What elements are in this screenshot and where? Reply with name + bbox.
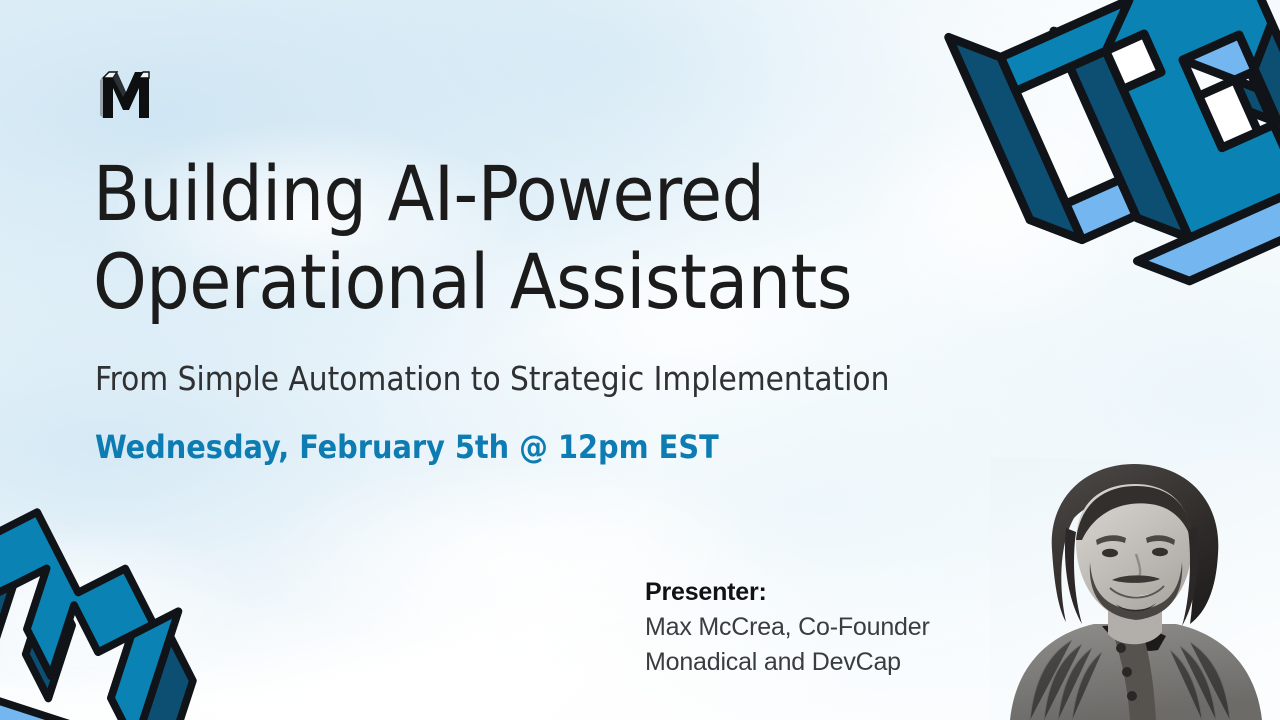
title-line-1: Building AI-Powered — [93, 150, 973, 238]
monadical-m-logo-icon — [95, 68, 157, 126]
presenter-photo — [990, 458, 1280, 720]
slide-text-column: Building AI-Powered Operational Assistan… — [93, 150, 973, 466]
event-date: Wednesday, February 5th @ 12pm EST — [95, 428, 973, 466]
presenter-block: Presenter: Max McCrea, Co-Founder Monadi… — [645, 575, 1005, 681]
slide-subtitle: From Simple Automation to Strategic Impl… — [95, 358, 973, 399]
webinar-announcement-slide: Building AI-Powered Operational Assistan… — [0, 0, 1280, 720]
presenter-company: Monadical and DevCap — [645, 645, 1005, 681]
page-title: Building AI-Powered Operational Assistan… — [93, 150, 973, 326]
presenter-name: Max McCrea, Co-Founder — [645, 610, 1005, 646]
presenter-label: Presenter: — [645, 575, 1005, 610]
title-line-2: Operational Assistants — [93, 238, 973, 326]
